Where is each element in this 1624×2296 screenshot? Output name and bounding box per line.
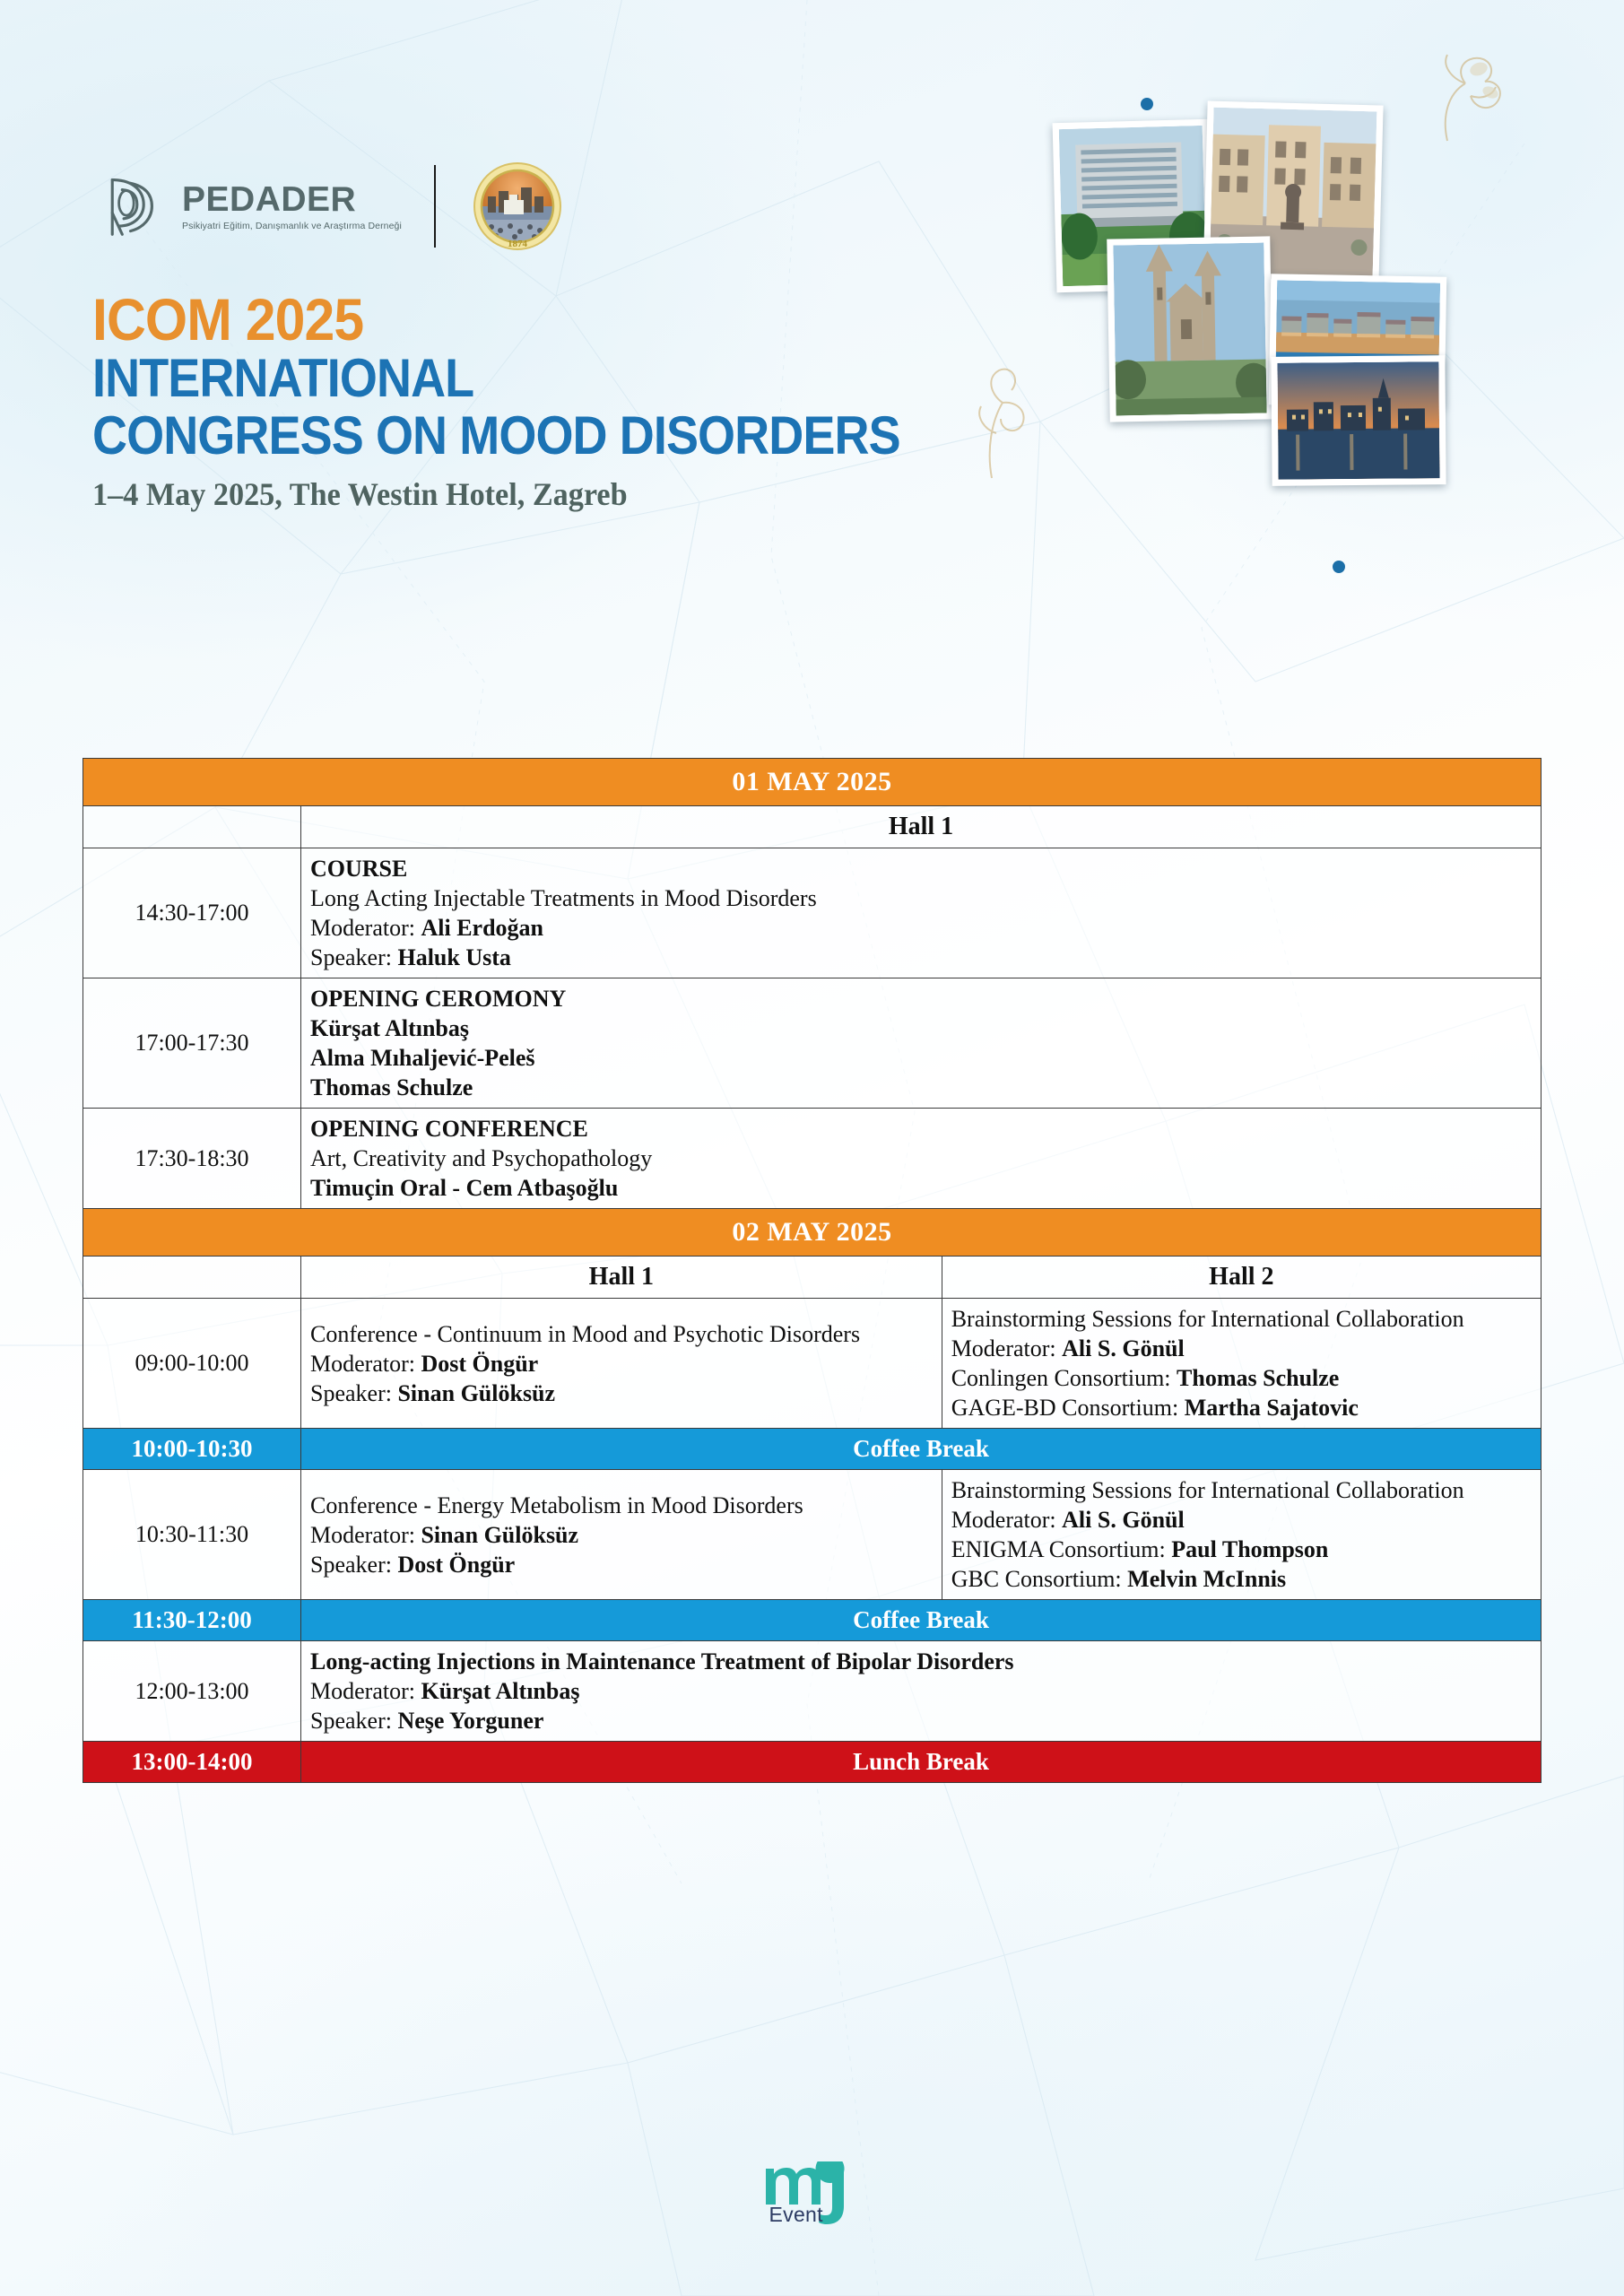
hall-header-2: Hall 2: [942, 1257, 1541, 1299]
hall-header-spacer: [83, 806, 301, 848]
session-cell-hall-1: Conference - Continuum in Mood and Psych…: [301, 1299, 942, 1429]
title-icom: ICOM 2025: [92, 291, 918, 348]
poster-footer: Event my: [0, 2161, 1624, 2231]
schedule-body: 01 MAY 2025 Hall 114:30-17:00COURSELong …: [83, 759, 1541, 1783]
pedader-mark-icon: [94, 165, 177, 248]
myevent-logo-text: Event: [769, 2203, 823, 2227]
collage-pin-bottom: [1333, 561, 1345, 573]
pedader-name: PEDADER: [182, 182, 402, 217]
photo-collage: [1046, 103, 1512, 587]
schedule-break-row: 10:00-10:30Coffee Break: [83, 1429, 1541, 1470]
title-line-1: INTERNATIONAL: [92, 352, 900, 405]
pedader-text: PEDADER Psikiyatri Eğitim, Danışmanlık v…: [182, 182, 402, 231]
break-time: 13:00-14:00: [83, 1742, 301, 1783]
schedule-session-row: 09:00-10:00Conference - Continuum in Moo…: [83, 1299, 1541, 1429]
session-cell-hall-2: Brainstorming Sessions for International…: [942, 1470, 1541, 1600]
seal-year: 1874: [508, 239, 528, 249]
photo-harbour-dusk: [1271, 355, 1446, 486]
hall-header-1: Hall 1: [301, 806, 1541, 848]
break-label: Coffee Break: [301, 1600, 1541, 1641]
schedule-break-row: 11:30-12:00Coffee Break: [83, 1600, 1541, 1641]
title-subtitle-date-venue: 1–4 May 2025, The Westin Hotel, Zagreb: [92, 475, 945, 513]
poster-page: PEDADER Psikiyatri Eğitim, Danışmanlık v…: [0, 0, 1624, 2296]
session-time: 17:00-17:30: [83, 978, 301, 1109]
pedader-logo: PEDADER Psikiyatri Eğitim, Danışmanlık v…: [94, 165, 402, 248]
session-time: 14:30-17:00: [83, 848, 301, 978]
schedule-day-header: 02 MAY 2025: [83, 1209, 1541, 1257]
schedule-session-row: 17:00-17:30OPENING CEROMONYKürşat Altınb…: [83, 978, 1541, 1109]
session-cell-hall-1: Conference - Energy Metabolism in Mood D…: [301, 1470, 942, 1600]
schedule-session-row: 14:30-17:00COURSELong Acting Injectable …: [83, 848, 1541, 978]
title-line-2: CONGRESS ON MOOD DISORDERS: [92, 409, 900, 463]
session-time: 17:30-18:30: [83, 1109, 301, 1209]
break-label: Lunch Break: [301, 1742, 1541, 1783]
floral-ornament-top-icon: [1395, 51, 1512, 159]
break-label: Coffee Break: [301, 1429, 1541, 1470]
hall-header-spacer: [83, 1257, 301, 1299]
schedule-session-row: 12:00-13:00Long-acting Injections in Mai…: [83, 1641, 1541, 1742]
photo-cathedral: [1107, 236, 1273, 422]
croatian-medical-association-seal-icon: 1874: [468, 157, 567, 256]
break-time: 11:30-12:00: [83, 1600, 301, 1641]
collage-pin-top: [1141, 98, 1153, 110]
floral-ornament-bottom-icon: [947, 363, 1046, 480]
hall-header-1: Hall 1: [301, 1257, 942, 1299]
session-cell-hall-1: Long-acting Injections in Maintenance Tr…: [301, 1641, 1541, 1742]
pedader-tagline: Psikiyatri Eğitim, Danışmanlık ve Araştı…: [182, 221, 402, 231]
session-time: 09:00-10:00: [83, 1299, 301, 1429]
hall-header-row: Hall 1Hall 2: [83, 1257, 1541, 1299]
session-time: 10:30-11:30: [83, 1470, 301, 1600]
poster-header: PEDADER Psikiyatri Eğitim, Danışmanlık v…: [0, 0, 1624, 430]
break-time: 10:00-10:30: [83, 1429, 301, 1470]
schedule-break-row: 13:00-14:00Lunch Break: [83, 1742, 1541, 1783]
logo-divider: [434, 165, 436, 248]
schedule-day-header: 01 MAY 2025: [83, 759, 1541, 806]
day-label: 02 MAY 2025: [83, 1209, 1541, 1257]
schedule-session-row: 17:30-18:30OPENING CONFERENCEArt, Creati…: [83, 1109, 1541, 1209]
session-cell-hall-2: Brainstorming Sessions for International…: [942, 1299, 1541, 1429]
session-cell-hall-1: OPENING CONFERENCEArt, Creativity and Ps…: [301, 1109, 1541, 1209]
congress-title-block: ICOM 2025 INTERNATIONAL CONGRESS ON MOOD…: [92, 291, 990, 513]
schedule-session-row: 10:30-11:30Conference - Energy Metabolis…: [83, 1470, 1541, 1600]
session-time: 12:00-13:00: [83, 1641, 301, 1742]
hall-header-row: Hall 1: [83, 806, 1541, 848]
myevent-logo: Event my: [759, 2161, 866, 2231]
session-cell-hall-1: COURSELong Acting Injectable Treatments …: [301, 848, 1541, 978]
schedule-table: 01 MAY 2025 Hall 114:30-17:00COURSELong …: [83, 758, 1541, 1783]
day-label: 01 MAY 2025: [83, 759, 1541, 806]
session-cell-hall-1: OPENING CEROMONYKürşat AltınbaşAlma Mıha…: [301, 978, 1541, 1109]
logo-row: PEDADER Psikiyatri Eğitim, Danışmanlık v…: [94, 157, 567, 256]
